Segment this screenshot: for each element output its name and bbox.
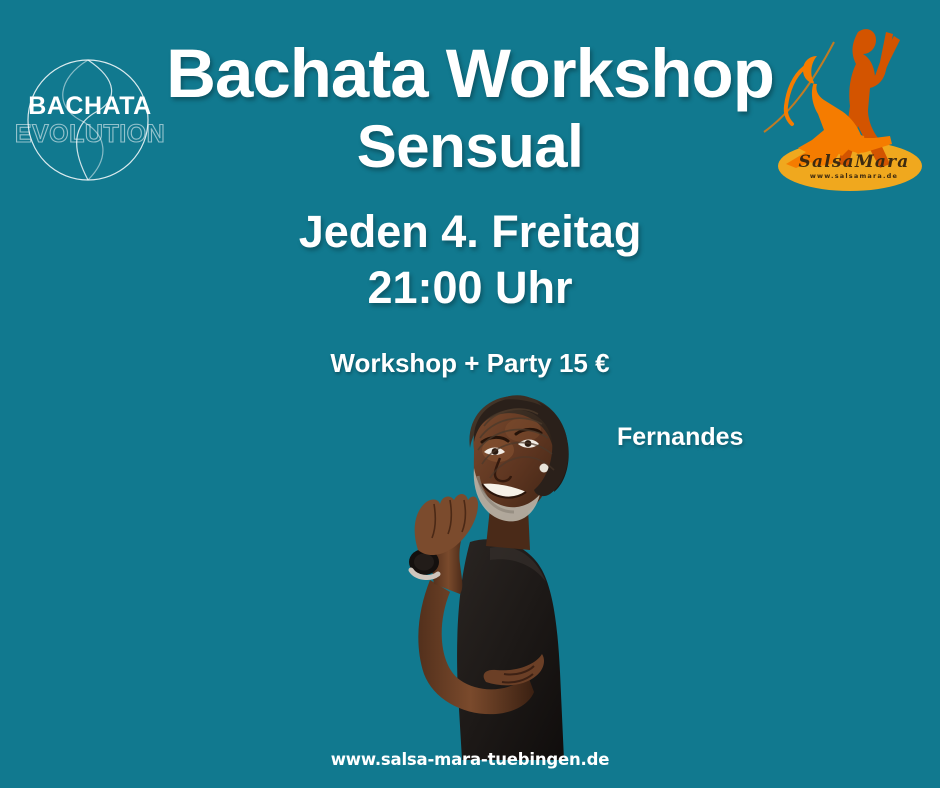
logo-text-bachata: BACHATA	[10, 94, 170, 119]
instructor-photo	[378, 392, 604, 760]
price-label: Workshop + Party 15 €	[0, 348, 940, 379]
event-poster: BACHATA EVOLUTION SalsaMara www.salsamar…	[0, 0, 940, 788]
instructor-portrait-image	[378, 392, 604, 760]
salsa-dancers-silhouette-icon	[762, 14, 932, 194]
instructor-name: Fernandes	[617, 423, 743, 452]
salsamara-logo: SalsaMara www.salsamara.de	[762, 14, 932, 194]
bachata-evolution-logo: BACHATA EVOLUTION	[18, 50, 158, 190]
logo-text-evolution: EVOLUTION	[10, 122, 170, 147]
bachata-evolution-wordmark: BACHATA EVOLUTION	[10, 94, 170, 147]
schedule-day: Jeden 4. Freitag	[0, 204, 940, 260]
schedule-time: 21:00 Uhr	[0, 260, 940, 316]
